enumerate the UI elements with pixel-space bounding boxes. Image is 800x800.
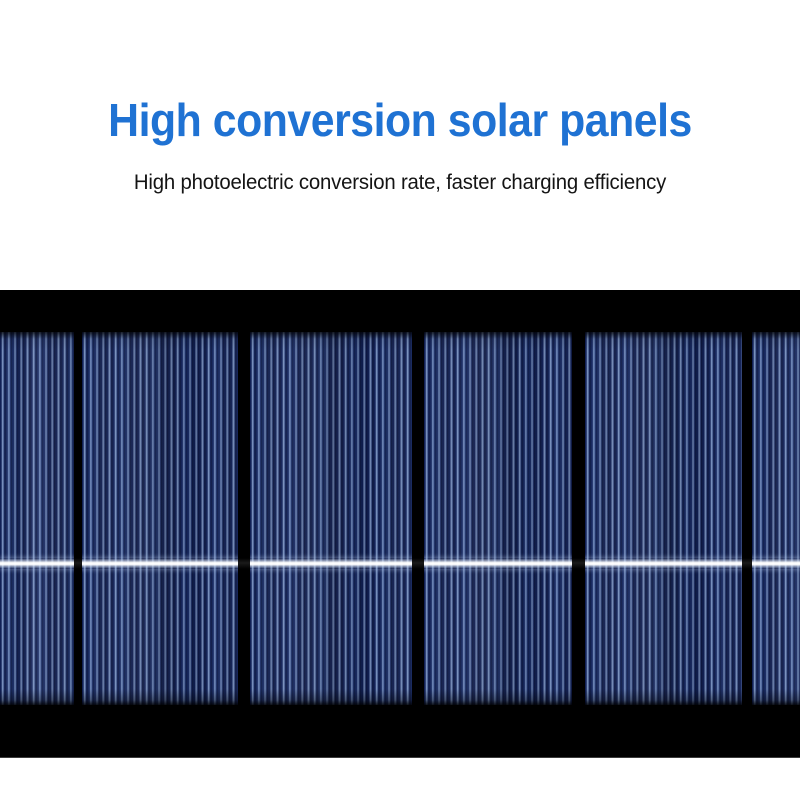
gutter-busbar-glint [742,558,752,569]
solar-cell-2 [82,332,238,705]
header-text-block: High conversion solar panels High photoe… [0,0,800,290]
solar-cell-5 [585,332,742,705]
page-subtitle: High photoelectric conversion rate, fast… [12,170,788,196]
cell-gutter-5 [742,332,752,705]
cell-gutter-4 [572,332,585,705]
cell-gutter-2 [238,332,250,705]
cell-edge-shading [424,332,572,705]
solar-cell-3 [250,332,412,705]
gutter-busbar-glint [572,558,585,569]
gutter-busbar-glint [412,558,424,569]
cell-edge-shading [752,332,800,705]
solar-cell-6 [752,332,800,705]
cell-edge-shading [585,332,742,705]
cell-gutter-1 [74,332,82,705]
cell-edge-shading [82,332,238,705]
cell-gutter-3 [412,332,424,705]
solar-panel-photo [0,290,800,758]
promo-page: High conversion solar panels High photoe… [0,0,800,800]
cell-edge-shading [0,332,74,705]
cell-edge-shading [250,332,412,705]
solar-cell-1 [0,332,74,705]
page-title: High conversion solar panels [28,94,772,146]
solar-cell-grid [0,332,800,705]
solar-cell-4 [424,332,572,705]
gutter-busbar-glint [74,558,82,569]
gutter-busbar-glint [238,558,250,569]
